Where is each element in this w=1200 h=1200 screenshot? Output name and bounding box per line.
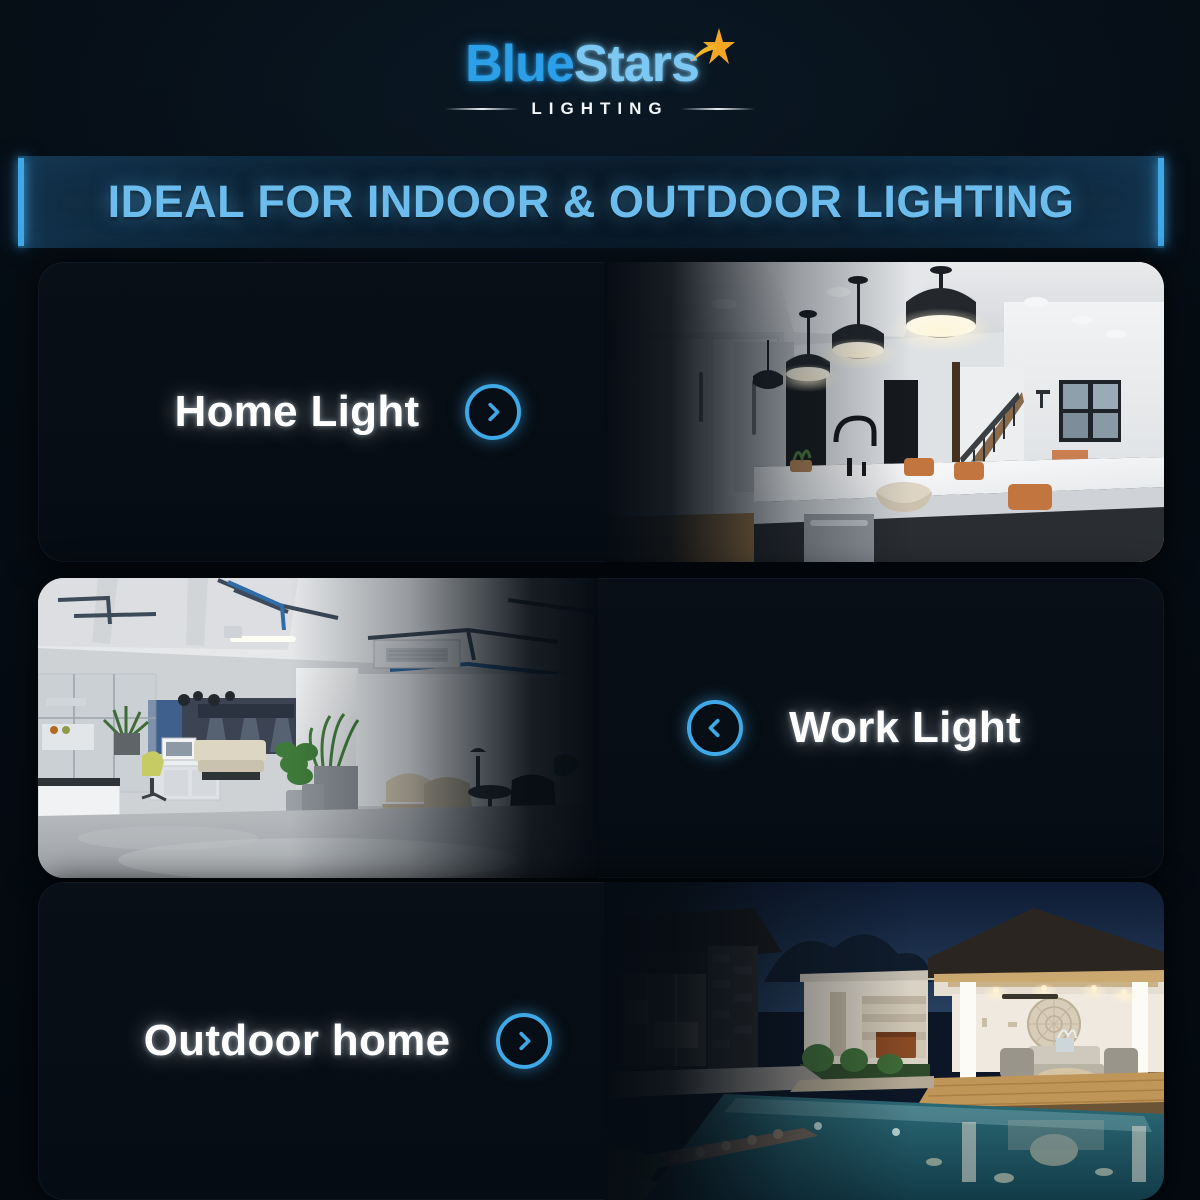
star-icon xyxy=(689,26,735,72)
headline-text: IDEAL FOR INDOOR & OUTDOOR LIGHTING xyxy=(24,176,1158,228)
brand-name-part1: Blue xyxy=(465,38,574,90)
brand-wordmark: BlueStars xyxy=(465,38,735,90)
tagline-line-right xyxy=(681,108,755,110)
work-light-photo xyxy=(38,578,598,878)
promo-page: BlueStars LIGHTING IDEAL FOR INDOOR & OU… xyxy=(0,0,1200,1200)
brand-logo: BlueStars LIGHTING xyxy=(0,38,1200,119)
feature-card-home-light[interactable]: Home Light xyxy=(38,262,1164,562)
chevron-right-icon[interactable] xyxy=(465,384,521,440)
brand-name-part2: Stars xyxy=(574,38,699,90)
outdoor-home-photo xyxy=(604,882,1164,1200)
card-title: Outdoor home xyxy=(144,1016,451,1066)
chevron-left-icon[interactable] xyxy=(687,700,743,756)
card-title: Work Light xyxy=(789,703,1021,753)
home-light-content: Home Light xyxy=(38,262,658,562)
feature-card-work-light[interactable]: Work Light xyxy=(38,578,1164,878)
headline-banner: IDEAL FOR INDOOR & OUTDOOR LIGHTING xyxy=(18,156,1164,248)
work-light-content: Work Light xyxy=(544,578,1164,878)
chevron-right-icon[interactable] xyxy=(496,1013,552,1069)
brand-tagline-row: LIGHTING xyxy=(445,99,754,119)
outdoor-home-content: Outdoor home xyxy=(38,882,658,1200)
home-light-photo xyxy=(604,262,1164,562)
feature-card-outdoor-home[interactable]: Outdoor home xyxy=(38,882,1164,1200)
brand-tagline: LIGHTING xyxy=(531,99,668,119)
tagline-line-left xyxy=(445,108,519,110)
card-title: Home Light xyxy=(175,387,420,437)
banner-accent-bar-right xyxy=(1158,158,1164,246)
